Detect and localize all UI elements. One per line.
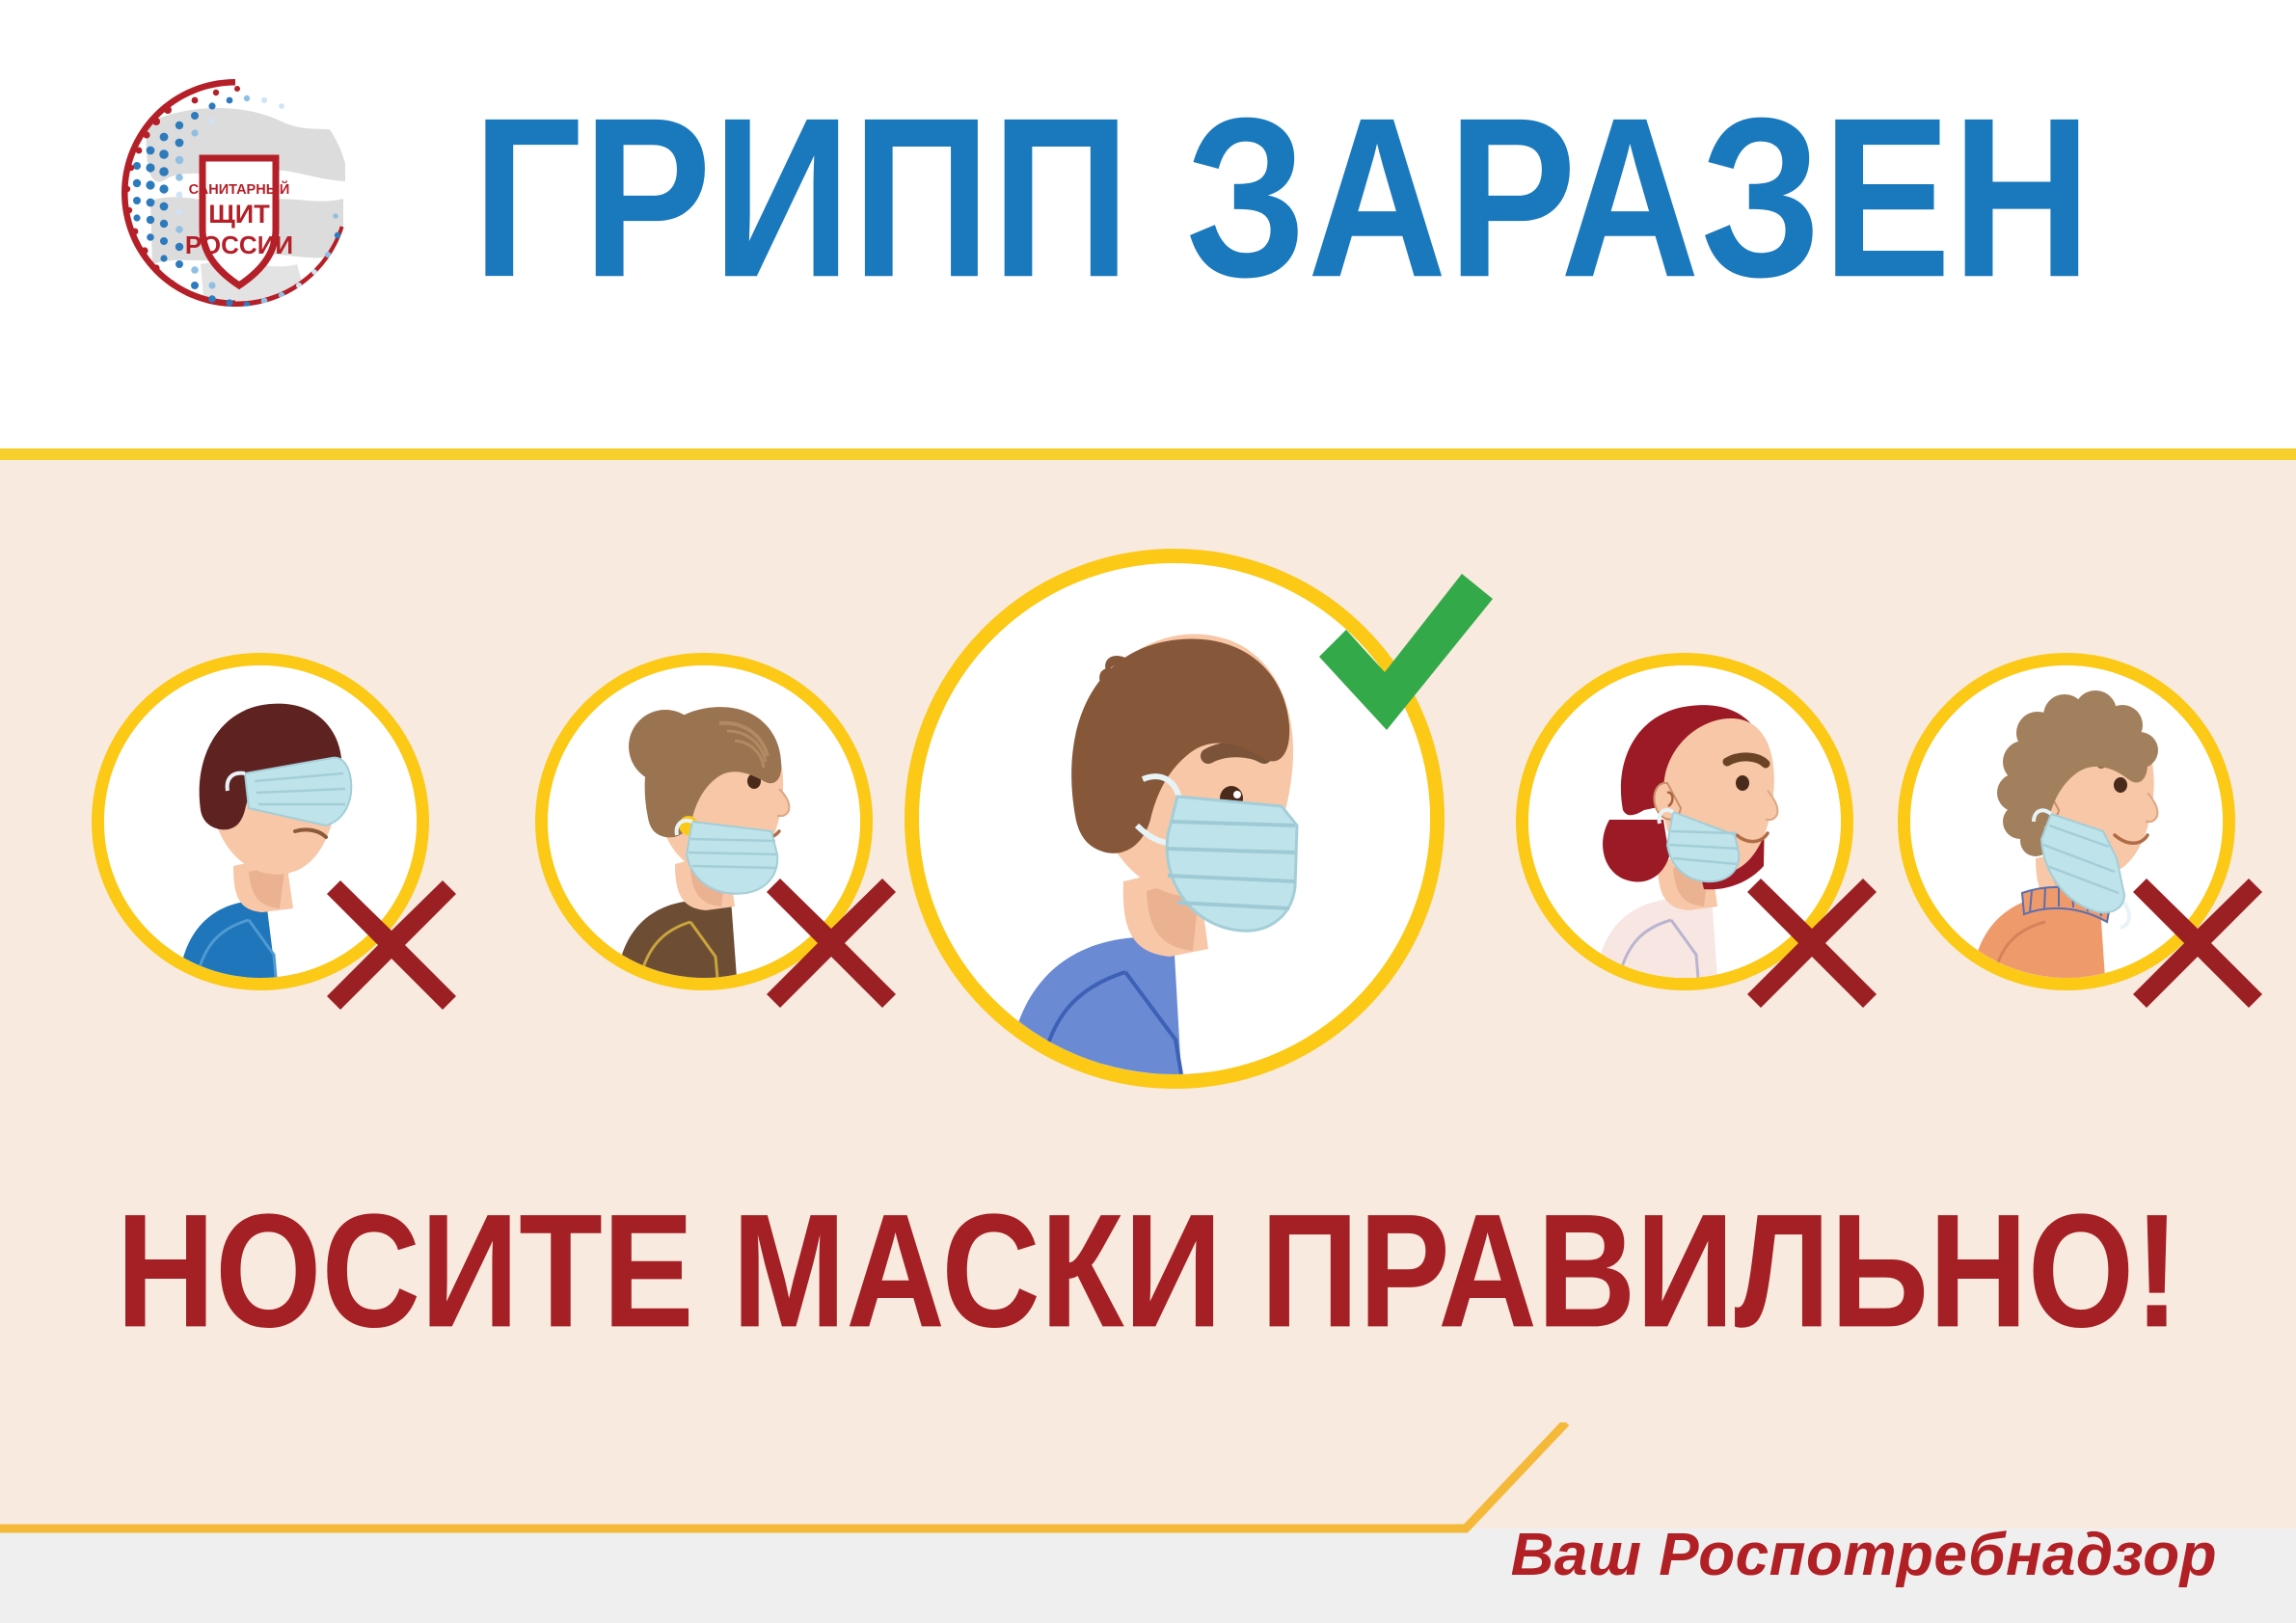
cross-icon <box>2125 871 2270 1015</box>
cross-icon <box>759 871 904 1015</box>
poster-root: САНИТАРНЫЙ ЩИТ РОССИИ ГРИПП ЗАРАЗЕН <box>0 0 2296 1623</box>
poster-title: ГРИПП ЗАРАЗЕН <box>473 85 2247 312</box>
header-divider <box>0 448 2296 460</box>
content-panel <box>0 460 2296 1528</box>
check-icon <box>1308 568 1500 742</box>
cross-icon <box>319 873 464 1017</box>
mask-figures-row <box>0 460 2296 1077</box>
cross-icon <box>1740 871 1884 1015</box>
sanitary-shield-logo: САНИТАРНЫЙ ЩИТ РОССИИ <box>108 66 363 320</box>
logo-line-2: ЩИТ <box>208 200 270 229</box>
footer-brand: Ваш Роспотребнадзор <box>1511 1521 2217 1589</box>
poster-headline: НОСИТЕ МАСКИ ПРАВИЛЬНО! <box>0 1191 2296 1353</box>
poster-header: САНИТАРНЫЙ ЩИТ РОССИИ ГРИПП ЗАРАЗЕН <box>0 0 2296 448</box>
logo-line-1: САНИТАРНЫЙ <box>189 180 290 198</box>
logo-line-3: РОССИИ <box>185 230 293 259</box>
